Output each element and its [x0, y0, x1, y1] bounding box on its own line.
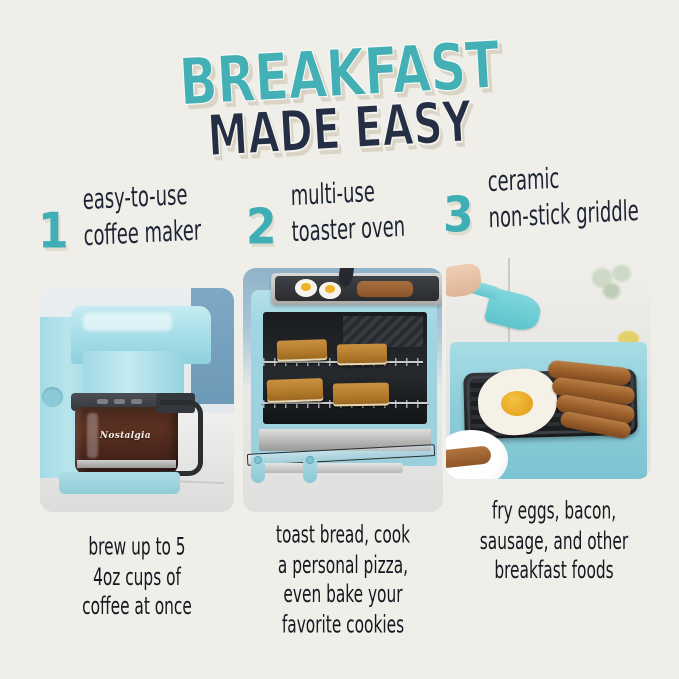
title-block: BREAKFAST MADE EASY	[0, 44, 679, 159]
handle-screw-left	[254, 456, 262, 464]
step-2-number: 2	[246, 203, 277, 252]
plant-decor	[585, 262, 647, 319]
toast-slice-1	[277, 339, 328, 361]
toast-slice-4	[333, 382, 389, 406]
toast-slice-3	[267, 378, 324, 403]
step-column-2: 2 multi-use toaster oven	[240, 186, 445, 256]
oven-handle-bar	[251, 463, 403, 473]
step-column-1: 1 easy-to-use coffee maker	[34, 186, 239, 256]
step-1-heading-line1: easy-to-use	[82, 179, 188, 216]
step-3-caption: fry eggs, bacon, sausage, and other brea…	[447, 497, 662, 587]
lid-highlight	[83, 313, 172, 331]
griddle-scene	[446, 258, 651, 479]
egg-yolk-1	[301, 283, 311, 291]
step-column-3: 3 ceramic non-stick griddle	[441, 172, 665, 242]
step-2-heading-line1: multi-use	[290, 176, 375, 212]
carafe-handle	[160, 400, 203, 476]
coffee-maker-photo: Nostalgia	[40, 288, 234, 512]
step-3-heading: ceramic non-stick griddle	[487, 160, 639, 234]
title-made-easy: MADE EASY	[206, 89, 474, 170]
coffee-maker-knob-icon	[42, 387, 63, 407]
step-2-heading: multi-use toaster oven	[290, 175, 405, 248]
toast-slice-2	[337, 343, 387, 365]
step-1-number: 1	[38, 207, 69, 256]
toaster-oven-scene	[243, 268, 443, 512]
step-1-caption: brew up to 5 4oz cups of coffee at once	[39, 533, 235, 623]
fried-egg-yolk	[501, 391, 532, 416]
toaster-oven-photo	[243, 268, 443, 512]
step-1-heading: easy-to-use coffee maker	[82, 179, 201, 252]
coffee-maker-base	[59, 472, 179, 494]
coffee-maker-scene: Nostalgia	[40, 288, 234, 512]
step-3-number: 3	[443, 191, 474, 240]
step-1-header: 1 easy-to-use coffee maker	[34, 186, 239, 256]
step-3-header: 3 ceramic non-stick griddle	[441, 172, 665, 242]
griddle-photo	[446, 258, 651, 479]
infographic-canvas: BREAKFAST MADE EASY 1 easy-to-use coffee…	[0, 0, 679, 679]
step-2-header: 2 multi-use toaster oven	[240, 186, 445, 256]
step-3-heading-line2: non-stick griddle	[488, 195, 639, 234]
hash-brown-patty	[357, 281, 413, 297]
oven-back-wall	[343, 316, 423, 348]
step-1-heading-line2: coffee maker	[83, 215, 201, 252]
handle-screw-right	[306, 456, 314, 464]
nostalgia-brand-label: Nostalgia	[83, 431, 168, 441]
step-3-heading-line1: ceramic	[487, 162, 559, 198]
step-2-caption: toast bread, cook a personal pizza, even…	[245, 521, 441, 641]
step-2-heading-line2: toaster oven	[291, 211, 405, 248]
